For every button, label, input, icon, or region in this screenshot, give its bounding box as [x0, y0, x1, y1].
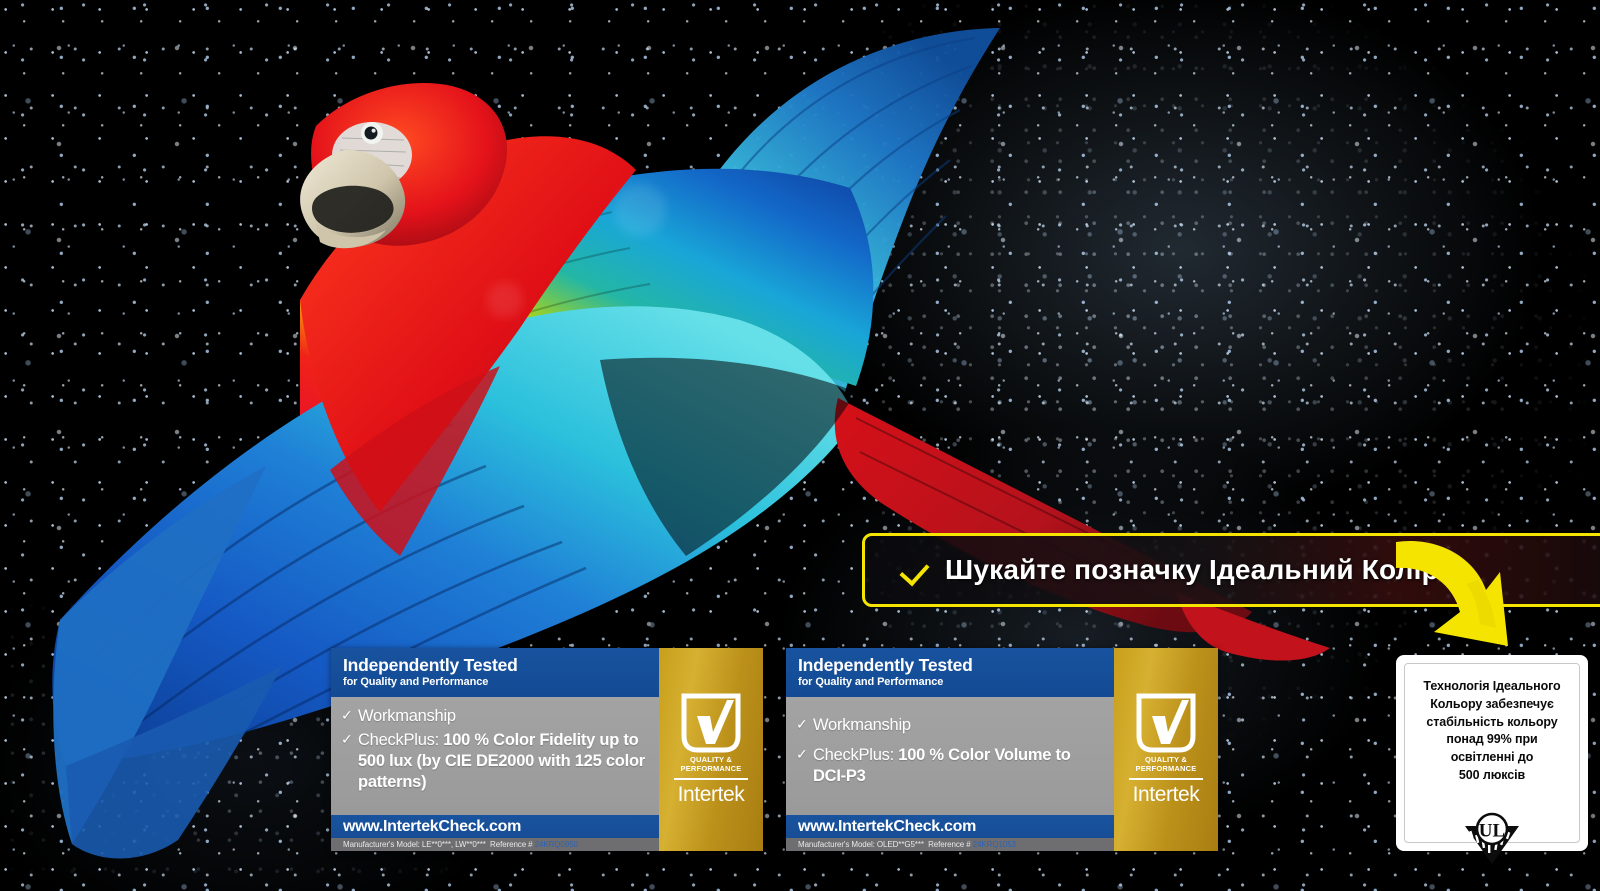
ul-line-5: освітленні до — [1413, 749, 1571, 767]
divider — [1129, 778, 1203, 780]
badge-subtitle: for Quality and Performance — [798, 675, 1102, 689]
intertek-badge-color-volume: Independently Tested for Quality and Per… — [786, 648, 1218, 851]
badge-model-label: Manufacturer's Model: — [798, 840, 875, 849]
badge-body: Independently Tested for Quality and Per… — [786, 648, 1114, 851]
badge-footer: www.IntertekCheck.com — [331, 815, 659, 838]
badge-fine-print: Manufacturer's Model: LE**0***, LW**0***… — [331, 838, 659, 851]
intertek-quality-performance-text: QUALITY & PERFORMANCE — [1136, 756, 1197, 774]
badge-title: Independently Tested — [798, 656, 1102, 674]
ul-certification-mark-icon: UL — [1461, 810, 1523, 866]
badge-feature-list: ✓ Workmanship ✓ CheckPlus: 100 % Color F… — [331, 697, 659, 815]
badge-body: Independently Tested for Quality and Per… — [331, 648, 659, 851]
intertek-logo-panel: QUALITY & PERFORMANCE Intertek — [1114, 648, 1218, 851]
badge-feature-item: ✓ Workmanship — [341, 706, 649, 727]
promo-image: Шукайте позначку Ідеальний Колір Техноло… — [0, 0, 1600, 891]
badge-feature-plain: CheckPlus: — [358, 731, 443, 749]
badge-feature-plain: Workmanship — [813, 716, 911, 734]
badge-fine-print: Manufacturer's Model: OLED**G5*** Refere… — [786, 838, 1114, 851]
curved-arrow-icon — [1382, 528, 1562, 663]
badge-feature-text: Workmanship — [358, 706, 456, 727]
banner-text: Шукайте позначку Ідеальний Колір — [945, 554, 1439, 586]
badge-footer: www.IntertekCheck.com — [786, 815, 1114, 838]
badge-feature-text: Workmanship — [813, 715, 911, 736]
check-icon — [901, 555, 931, 585]
check-icon: ✓ — [796, 715, 810, 734]
divider — [674, 778, 748, 780]
ul-line-1: Технологія Ідеального — [1413, 678, 1571, 696]
ul-mark-label: UL — [1479, 821, 1505, 842]
ul-spec-card: Технологія Ідеального Кольору забезпечує… — [1396, 655, 1588, 851]
check-icon: ✓ — [341, 730, 355, 749]
intertek-logo-panel: QUALITY & PERFORMANCE Intertek — [659, 648, 763, 851]
badge-model-value: OLED**G5*** — [877, 840, 924, 849]
badge-ref-value: 24KRQ0950 — [535, 840, 578, 849]
qp-line-2: PERFORMANCE — [1136, 765, 1197, 774]
badge-ref-value: 24KRQ1053 — [973, 840, 1016, 849]
badge-ref-label: Reference # — [490, 840, 532, 849]
intertek-check-mark-icon — [1135, 692, 1197, 754]
badge-feature-item: ✓ CheckPlus: 100 % Color Volume to DCI-P… — [796, 745, 1104, 787]
badge-model-value: LE**0***, LW**0*** — [422, 840, 486, 849]
qp-line-2: PERFORMANCE — [681, 765, 742, 774]
ul-card-text: Технологія Ідеального Кольору забезпечує… — [1413, 678, 1571, 785]
badge-feature-item: ✓ CheckPlus: 100 % Color Fidelity up to … — [341, 730, 649, 793]
badge-feature-text: CheckPlus: 100 % Color Volume to DCI-P3 — [813, 745, 1104, 787]
badge-model-label: Manufacturer's Model: — [343, 840, 420, 849]
ul-line-4: понад 99% при — [1413, 731, 1571, 749]
badge-feature-item: ✓ Workmanship — [796, 715, 1104, 736]
badge-ref-label: Reference # — [928, 840, 970, 849]
badge-feature-text: CheckPlus: 100 % Color Fidelity up to 50… — [358, 730, 649, 793]
intertek-quality-performance-text: QUALITY & PERFORMANCE — [681, 756, 742, 774]
badge-title: Independently Tested — [343, 656, 647, 674]
intertek-wordmark: Intertek — [1133, 783, 1200, 807]
ul-line-2: Кольору забезпечує — [1413, 696, 1571, 714]
ul-line-6: 500 люксів — [1413, 767, 1571, 785]
check-icon: ✓ — [341, 706, 355, 725]
intertek-badge-color-fidelity: Independently Tested for Quality and Per… — [331, 648, 763, 851]
check-icon: ✓ — [796, 745, 810, 764]
intertek-wordmark: Intertek — [678, 783, 745, 807]
ul-card-inner: Технологія Ідеального Кольору забезпечує… — [1404, 663, 1580, 843]
badge-subtitle: for Quality and Performance — [343, 675, 647, 689]
badge-feature-list: ✓ Workmanship ✓ CheckPlus: 100 % Color V… — [786, 697, 1114, 815]
badge-feature-plain: CheckPlus: — [813, 746, 898, 764]
badge-header: Independently Tested for Quality and Per… — [786, 648, 1114, 697]
badge-header: Independently Tested for Quality and Per… — [331, 648, 659, 697]
badge-feature-plain: Workmanship — [358, 707, 456, 725]
ul-line-3: стабільність кольору — [1413, 714, 1571, 732]
intertek-check-mark-icon — [680, 692, 742, 754]
badge-url[interactable]: www.IntertekCheck.com — [798, 818, 1102, 836]
badge-url[interactable]: www.IntertekCheck.com — [343, 818, 647, 836]
